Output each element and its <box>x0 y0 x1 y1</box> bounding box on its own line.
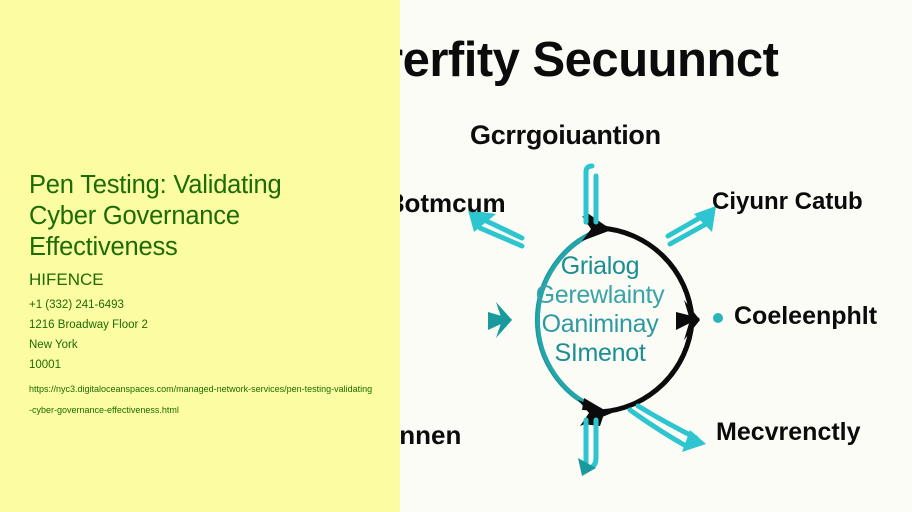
illustration-panel: rerfity Secuunnct Gcrrgoiuantion 3otmcum… <box>400 0 912 512</box>
arrow-top-vertical-cyan <box>586 166 596 222</box>
center-line-2: Gerewlainty <box>492 281 708 310</box>
diagram-label-right-bottom: Mecvrenctly <box>716 420 861 445</box>
center-line-3: Oaniminay <box>492 310 708 339</box>
article-info-panel: Pen Testing: Validating Cyber Governance… <box>0 0 400 512</box>
source-url-link[interactable]: https://nyc3.digitaloceanspaces.com/mana… <box>29 379 375 421</box>
article-info-content: Pen Testing: Validating Cyber Governance… <box>29 170 377 421</box>
page-title: Pen Testing: Validating Cyber Governance… <box>29 170 377 263</box>
diagram-label-left-bottom: innen <box>400 422 461 448</box>
bullet-dot-teal <box>713 313 723 323</box>
illustration-subheadline: Gcrrgoiuantion <box>470 122 661 149</box>
brand-name: HIFENCE <box>29 269 377 290</box>
contact-street: 1216 Broadway Floor 2 <box>29 315 377 335</box>
contact-zip: 10001 <box>29 355 377 375</box>
arrow-lower-right-teal <box>630 406 696 446</box>
social-share-card: Pen Testing: Validating Cyber Governance… <box>0 0 912 512</box>
arrow-bottom-vertical-cyan <box>586 420 596 468</box>
illustration-headline: rerfity Secuunnct <box>400 36 912 85</box>
diagram-label-right-mid: Coeleenphlt <box>734 304 877 329</box>
diagram-center-text: Griаlog Gerewlainty Oaniminay SImenot <box>492 252 708 368</box>
contact-city: New York <box>29 335 377 355</box>
center-line-4: SImenot <box>492 339 708 368</box>
diagram-label-right-top: Ciyunr Catub <box>712 190 863 214</box>
contact-phone[interactable]: +1 (332) 241-6493 <box>29 295 377 315</box>
center-line-1: Griаlog <box>492 252 708 281</box>
diagram-label-left-top: 3otmcum <box>400 190 506 216</box>
